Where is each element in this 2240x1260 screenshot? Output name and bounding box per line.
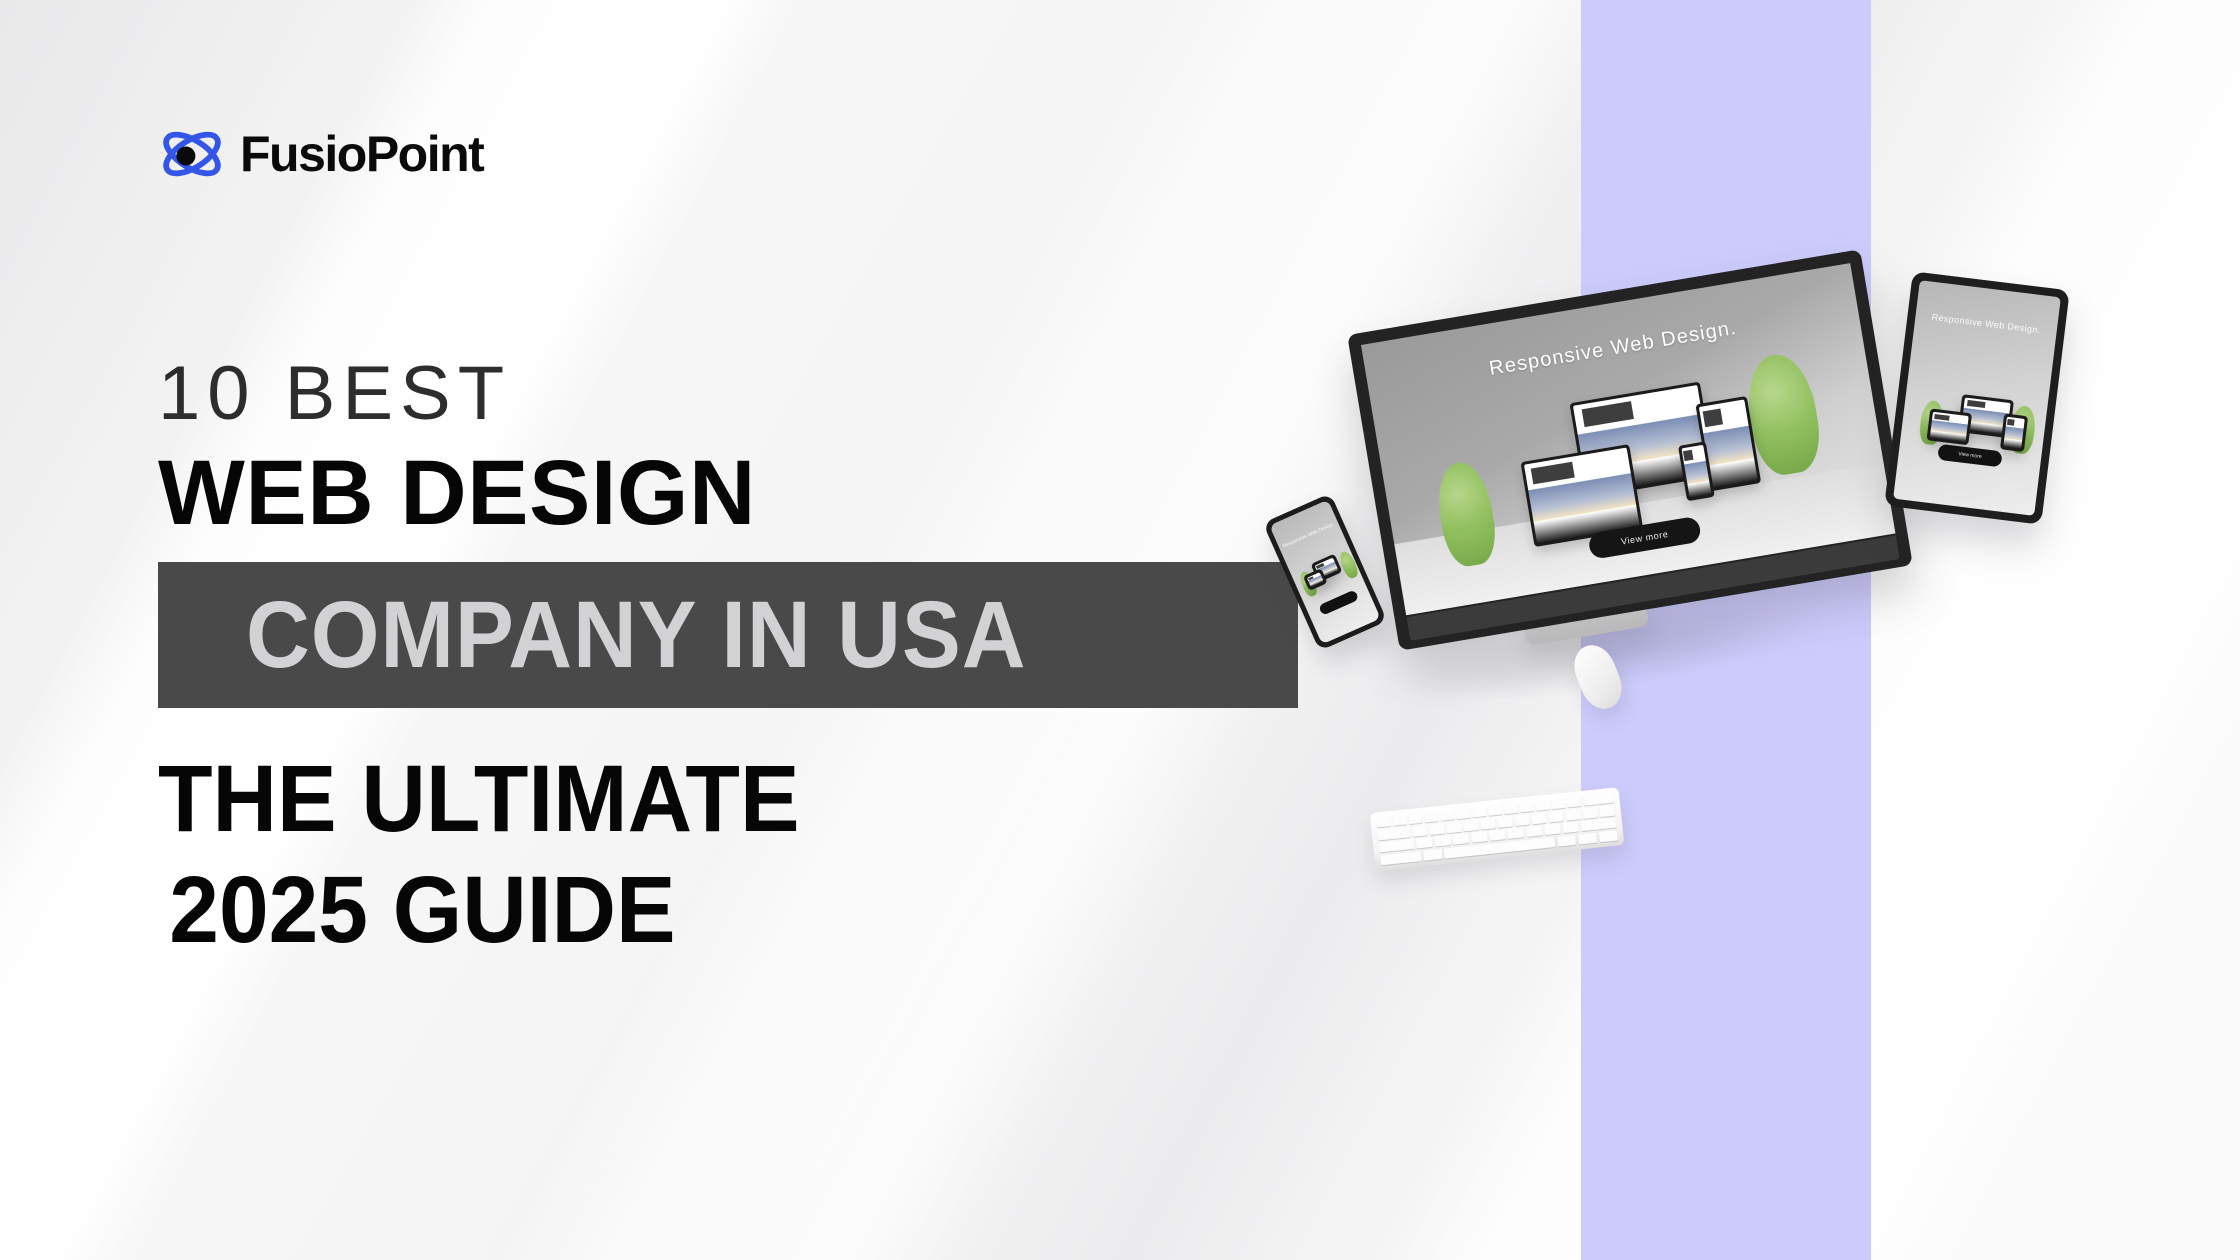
tablet-cluster-tablet xyxy=(1926,408,1972,445)
tablet-device: Responsive Web Design. View more xyxy=(1884,271,2070,524)
headline-eyebrow: 10 BEST xyxy=(158,355,1358,433)
desktop-monitor: Responsive Web Design. View more xyxy=(1347,249,1913,650)
mouse xyxy=(1567,639,1629,715)
headline-line-web-design: WEB DESIGN xyxy=(158,447,1358,541)
headline-line-2025-guide: 2025 GUIDE xyxy=(158,857,1286,963)
tablet-screen-cta-button[interactable]: View more xyxy=(1937,444,2002,468)
phone-screen-cta-button[interactable] xyxy=(1318,589,1359,615)
brand-logo[interactable]: FusioPoint xyxy=(158,118,483,190)
headline-highlight-text: COMPANY IN USA xyxy=(246,588,1026,683)
atom-icon xyxy=(158,120,226,188)
tablet-screen-title: Responsive Web Design. xyxy=(1915,310,2057,337)
headline-block: 10 BEST WEB DESIGN COMPANY IN USA THE UL… xyxy=(158,355,1358,963)
responsive-devices-mockup: Responsive Web Design. View more Respons… xyxy=(1310,240,2240,1020)
tablet-screen: Responsive Web Design. View more xyxy=(1893,280,2061,516)
banner-canvas: FusioPoint 10 BEST WEB DESIGN COMPANY IN… xyxy=(0,0,2240,1260)
tablet-cluster-phone xyxy=(2000,413,2028,452)
phone-screen-title: Responsive Web Design. xyxy=(1278,520,1339,552)
brand-name: FusioPoint xyxy=(240,129,483,179)
headline-highlight-bar: COMPANY IN USA xyxy=(158,562,1298,708)
keyboard xyxy=(1370,787,1625,871)
plant-left-icon xyxy=(1432,458,1500,569)
headline-line-the-ultimate: THE ULTIMATE xyxy=(158,746,1286,852)
